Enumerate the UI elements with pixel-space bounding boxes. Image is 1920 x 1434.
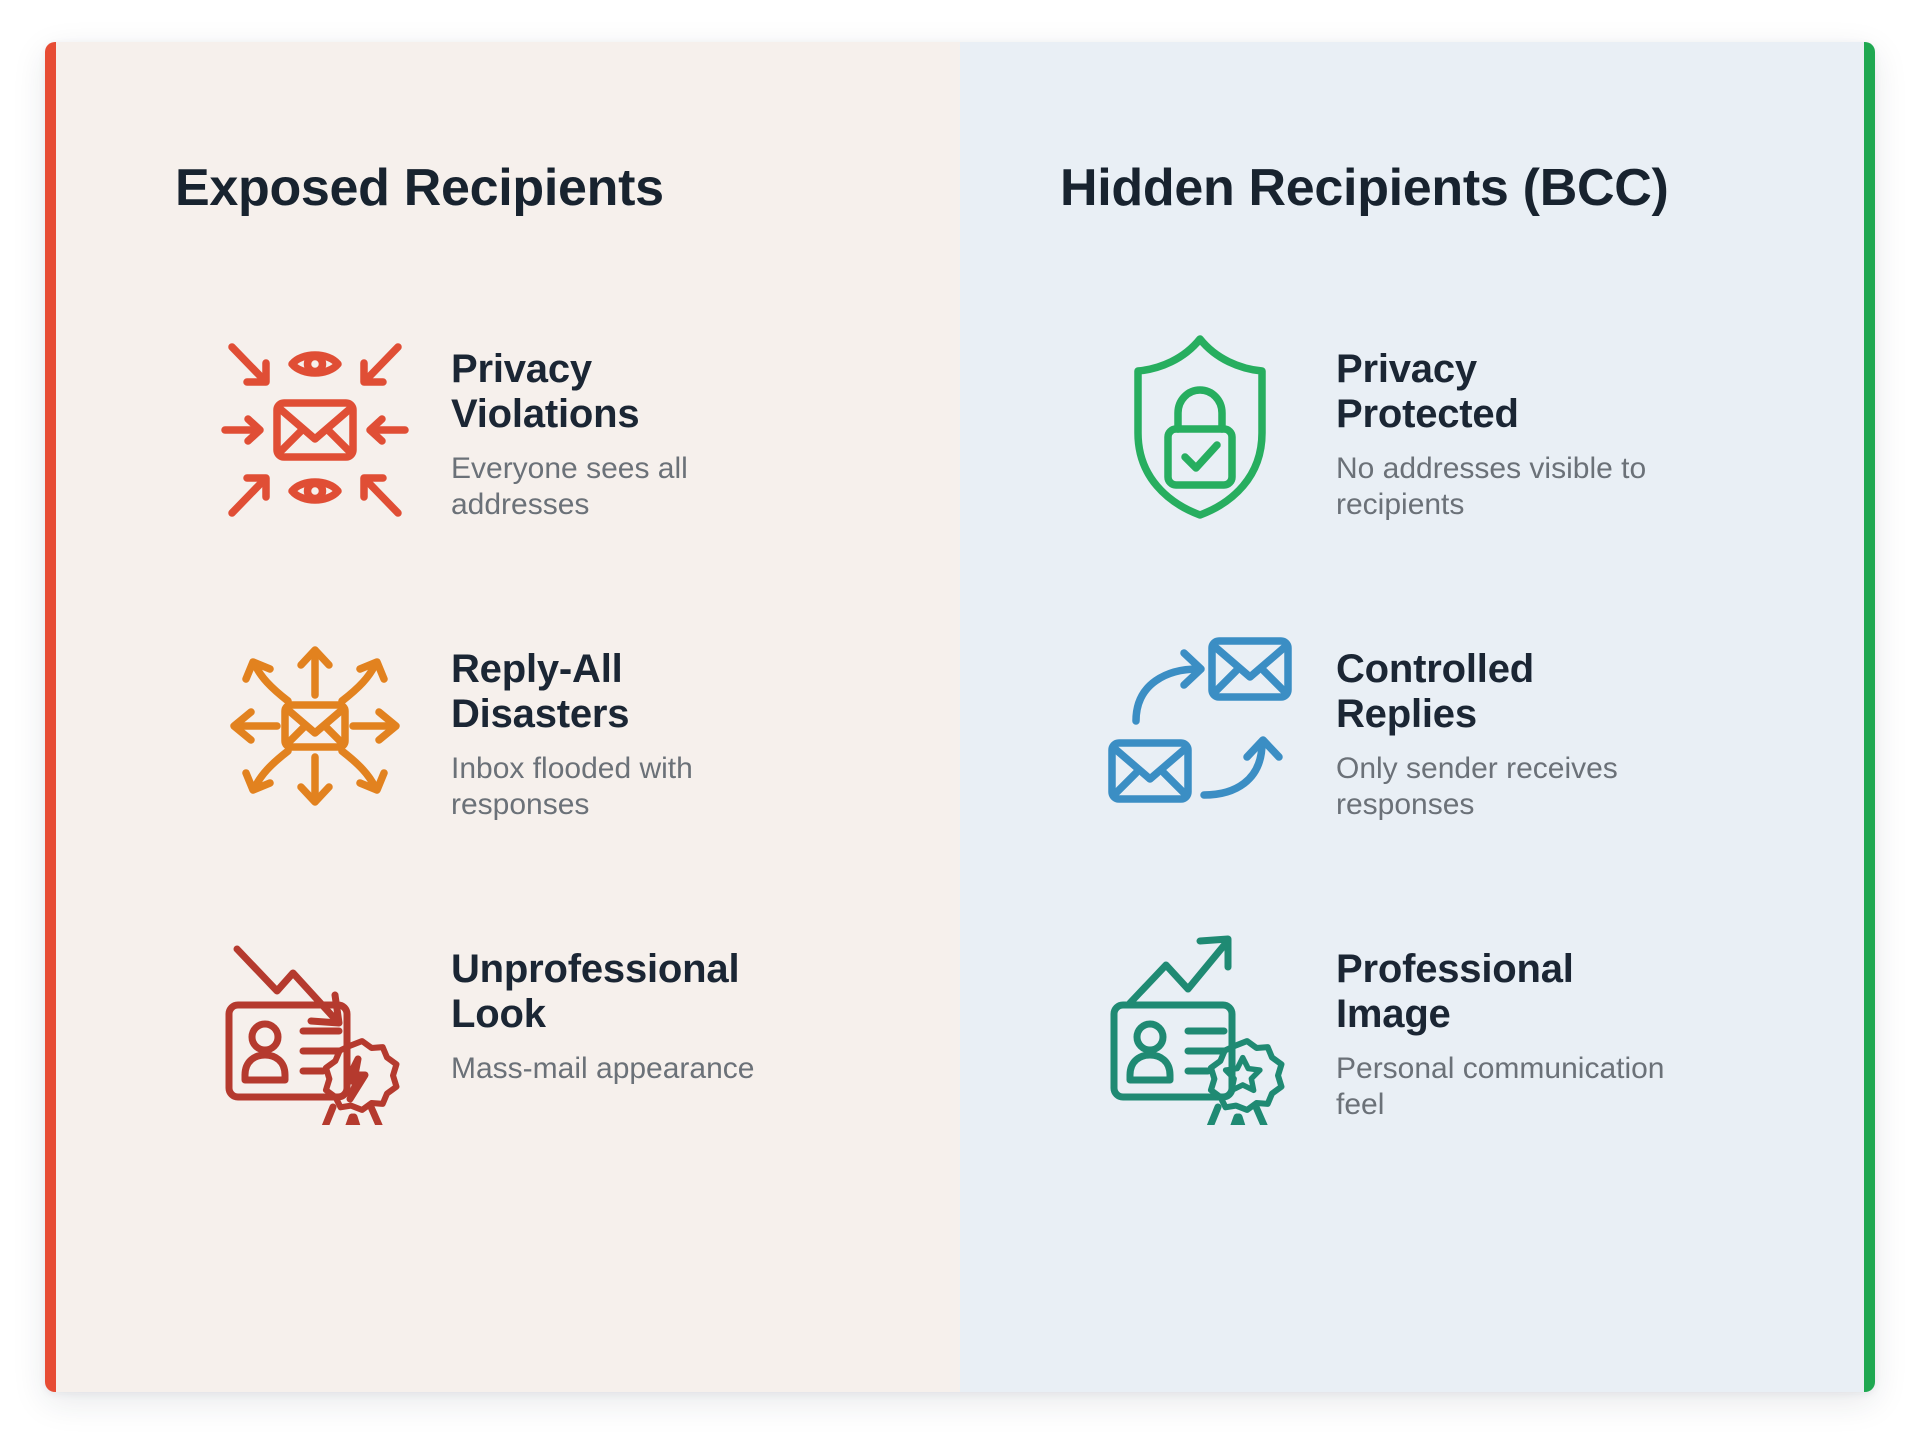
list-item-description: Inbox flooded with responses bbox=[451, 751, 781, 824]
id-card-up-arrow-star-badge-icon bbox=[1100, 925, 1300, 1125]
list-item-text: Controlled Replies Only sender receives … bbox=[1336, 625, 1666, 824]
list-item: Professional Image Personal communicatio… bbox=[960, 925, 1875, 1225]
left-accent-bar bbox=[45, 42, 56, 1392]
list-item-title: Unprofessional Look bbox=[451, 947, 781, 1037]
list-item-description: No addresses visible to recipients bbox=[1336, 451, 1666, 524]
bcc-comparison-card: Exposed Recipients bbox=[45, 42, 1875, 1392]
list-item-text: Professional Image Personal communicatio… bbox=[1336, 925, 1666, 1124]
list-item-description: Mass-mail appearance bbox=[451, 1051, 781, 1088]
left-panel-rows: Privacy Violations Everyone sees all add… bbox=[45, 325, 960, 1225]
list-item: Reply-All Disasters Inbox flooded with r… bbox=[45, 625, 960, 925]
list-item-text: Privacy Protected No addresses visible t… bbox=[1336, 325, 1666, 524]
right-panel-rows: Privacy Protected No addresses visible t… bbox=[960, 325, 1875, 1225]
list-item-title: Privacy Protected bbox=[1336, 347, 1666, 437]
id-card-down-arrow-broken-badge-icon bbox=[215, 925, 415, 1125]
envelope-reply-all-burst-icon bbox=[215, 625, 415, 825]
list-item-text: Privacy Violations Everyone sees all add… bbox=[451, 325, 781, 524]
right-accent-bar bbox=[1864, 42, 1875, 1392]
infographic-stage: Exposed Recipients bbox=[0, 0, 1920, 1434]
two-envelopes-curved-arrows-icon bbox=[1100, 625, 1300, 825]
left-panel-title: Exposed Recipients bbox=[175, 160, 960, 217]
list-item-text: Unprofessional Look Mass-mail appearance bbox=[451, 925, 781, 1087]
list-item-title: Privacy Violations bbox=[451, 347, 781, 437]
list-item: Privacy Protected No addresses visible t… bbox=[960, 325, 1875, 625]
list-item-description: Only sender receives responses bbox=[1336, 751, 1666, 824]
two-envelopes-curved-arrows-icon-row: Controlled Replies Only sender receives … bbox=[960, 625, 1875, 925]
list-item-text: Reply-All Disasters Inbox flooded with r… bbox=[451, 625, 781, 824]
list-item-title: Reply-All Disasters bbox=[451, 647, 781, 737]
list-item-title: Controlled Replies bbox=[1336, 647, 1666, 737]
list-item-title: Professional Image bbox=[1336, 947, 1666, 1037]
list-item: Unprofessional Look Mass-mail appearance bbox=[45, 925, 960, 1225]
envelope-eyes-arrows-icon bbox=[215, 325, 415, 525]
list-item-description: Everyone sees all addresses bbox=[451, 451, 781, 524]
list-item-description: Personal communication feel bbox=[1336, 1051, 1666, 1124]
shield-lock-check-icon bbox=[1100, 325, 1300, 525]
right-panel-title: Hidden Recipients (BCC) bbox=[1060, 160, 1875, 217]
list-item: Privacy Violations Everyone sees all add… bbox=[45, 325, 960, 625]
hidden-recipients-panel: Hidden Recipients (BCC) bbox=[960, 42, 1875, 1392]
exposed-recipients-panel: Exposed Recipients bbox=[45, 42, 960, 1392]
